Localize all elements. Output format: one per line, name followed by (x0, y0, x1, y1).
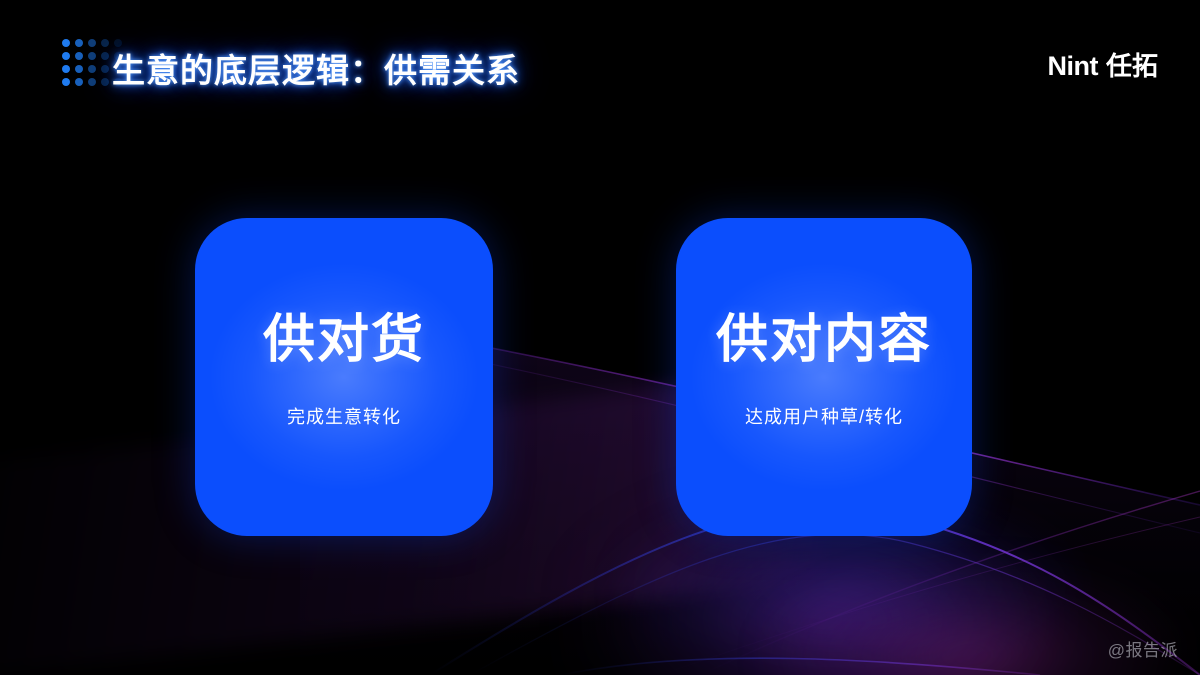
card-subtitle: 完成生意转化 (287, 408, 401, 426)
slide-canvas: 生意的底层逻辑：供需关系 Nint 任拓 供对货 完成生意转化 供对内容 达成用… (0, 0, 1200, 675)
card-title: 供对货 (263, 314, 425, 366)
card-supply-right-goods[interactable]: 供对货 完成生意转化 (195, 218, 493, 536)
watermark: @报告派 (1108, 636, 1178, 661)
card-subtitle: 达成用户种草/转化 (745, 408, 903, 426)
card-title: 供对内容 (716, 314, 932, 366)
card-group: 供对货 完成生意转化 供对内容 达成用户种草/转化 (0, 0, 1200, 675)
card-supply-right-content[interactable]: 供对内容 达成用户种草/转化 (676, 218, 972, 536)
